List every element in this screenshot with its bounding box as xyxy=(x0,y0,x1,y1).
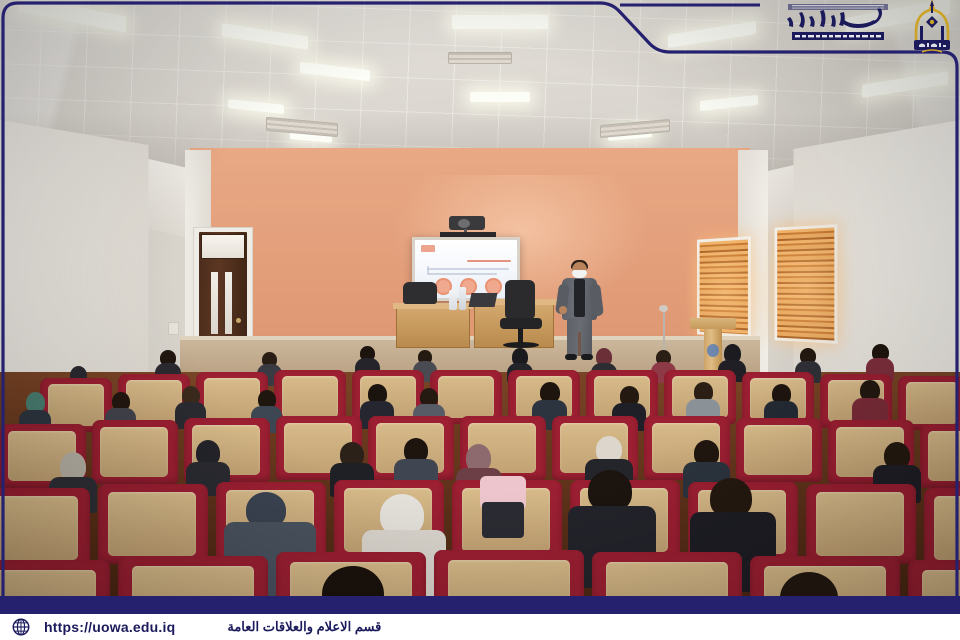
water-bottle xyxy=(459,287,466,310)
presenter xyxy=(558,262,600,362)
window-light-glow xyxy=(760,218,854,358)
podium-emblem-icon xyxy=(707,344,719,357)
slide-text-line xyxy=(427,273,497,275)
light-switch[interactable] xyxy=(168,322,179,335)
photo-frame xyxy=(0,0,960,614)
auditorium-seat-back xyxy=(816,492,904,556)
auditorium-seat-back xyxy=(744,425,812,475)
slide-text-line xyxy=(427,268,509,270)
auditorium-seat-back xyxy=(0,570,96,614)
laptop xyxy=(469,293,498,307)
presenter-face-mask xyxy=(572,270,587,278)
desk-chair xyxy=(403,282,437,304)
auditorium-seat-back xyxy=(922,570,960,614)
ceiling-light-panel xyxy=(470,92,530,102)
slide-logo-mark xyxy=(421,245,435,252)
presenter-shoe xyxy=(581,354,593,360)
auditorium-seat-back xyxy=(100,427,168,477)
presenter-leg-gap xyxy=(578,332,581,356)
water-bottle xyxy=(449,290,457,310)
auditorium-seat-back xyxy=(606,562,728,614)
auditorium-seat-back xyxy=(934,496,960,560)
university-wordmark-logo xyxy=(784,3,892,43)
microphone-icon xyxy=(659,305,668,312)
front-desk xyxy=(396,306,470,348)
swivel-chair-back xyxy=(505,280,535,320)
door-glass-panel xyxy=(211,272,218,334)
auditorium-seat-back xyxy=(48,384,104,426)
website-url[interactable]: https://uowa.edu.iq xyxy=(44,619,175,635)
auditorium-seat-back xyxy=(132,566,254,614)
auditorium-seat-back xyxy=(448,560,570,614)
audience-head xyxy=(322,566,384,614)
podium-top xyxy=(690,318,736,329)
globe-icon xyxy=(12,618,30,636)
ceiling-light-panel xyxy=(452,15,548,29)
handbag-body xyxy=(482,502,524,538)
university-crest-logo xyxy=(908,0,956,56)
auditorium-seat-back xyxy=(928,431,960,481)
auditorium-seat-back xyxy=(282,376,338,418)
slide-text-line xyxy=(427,266,429,274)
lecture-hall-photo xyxy=(0,0,960,614)
auditorium-seat-back xyxy=(108,492,196,556)
presenter-hand xyxy=(559,306,567,314)
ceiling-air-vent xyxy=(448,52,512,64)
projector-lens-icon xyxy=(458,219,470,228)
door-transom-window xyxy=(201,234,245,259)
door-knob[interactable] xyxy=(236,318,241,323)
presenter-shirt xyxy=(574,279,585,317)
footer-bar: https://uowa.edu.iq قسم الاعلام والعلاقا… xyxy=(0,614,960,640)
presenter-shoe xyxy=(565,354,577,360)
auditorium-seat-back xyxy=(438,376,494,418)
microphone-stand xyxy=(663,310,665,354)
door-glass-panel xyxy=(225,272,232,334)
department-label: قسم الاعلام والعلاقات العامة xyxy=(227,619,381,635)
auditorium-seat-back xyxy=(0,496,78,560)
slide-text-line xyxy=(467,260,511,262)
press-photo-card: https://uowa.edu.iq قسم الاعلام والعلاقا… xyxy=(0,0,960,640)
auditorium-seat-back xyxy=(906,382,958,424)
